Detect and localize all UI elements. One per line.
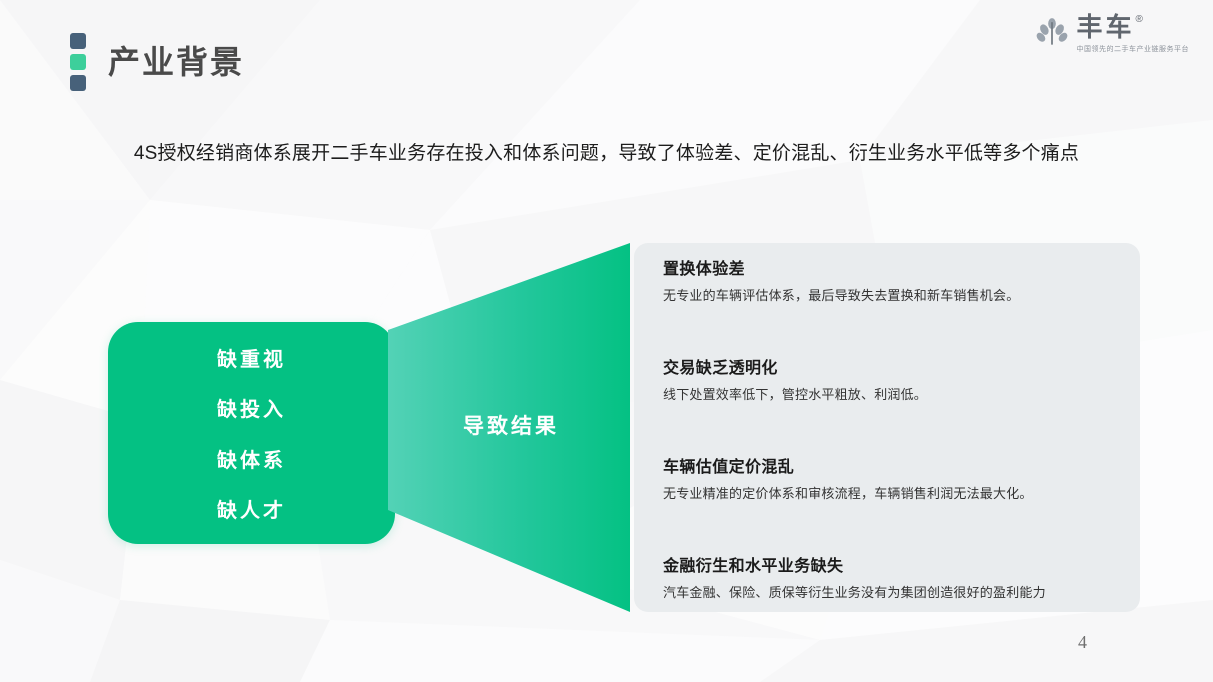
- result-item: 车辆估值定价混乱 无专业精准的定价体系和审核流程，车辆销售利润无法最大化。: [663, 453, 1133, 503]
- page-number: 4: [1078, 632, 1087, 653]
- result-description: 无专业的车辆评估体系，最后导致失去置换和新车销售机会。: [663, 288, 1133, 305]
- title-mark-bottom: [70, 75, 86, 91]
- results-list: 置换体验差 无专业的车辆评估体系，最后导致失去置换和新车销售机会。 交易缺乏透明…: [663, 251, 1133, 606]
- causes-card: 缺重视 缺投入 缺体系 缺人才: [108, 322, 395, 544]
- result-title: 置换体验差: [663, 255, 1133, 279]
- result-description: 无专业精准的定价体系和审核流程，车辆销售利润无法最大化。: [663, 486, 1133, 503]
- result-item: 金融衍生和水平业务缺失 汽车金融、保险、质保等衍生业务没有为集团创造很好的盈利能…: [663, 552, 1133, 602]
- slide-canvas: 产业背景 丰车 ® 中国领先的二手车产业链服务平台: [0, 0, 1213, 682]
- brand-name: 丰车: [1077, 14, 1135, 40]
- registered-mark-icon: ®: [1136, 15, 1143, 25]
- result-description: 线下处置效率低下，管控水平粗放、利润低。: [663, 387, 1133, 404]
- result-title: 交易缺乏透明化: [663, 354, 1133, 378]
- brand-text: 丰车 ® 中国领先的二手车产业链服务平台: [1077, 14, 1190, 54]
- brand-wheat-icon: [1035, 16, 1069, 50]
- title-mark-middle: [70, 54, 86, 70]
- cause-item-4: 缺人才: [217, 494, 286, 523]
- result-title: 车辆估值定价混乱: [663, 453, 1133, 477]
- slide-subtitle: 4S授权经销商体系展开二手车业务存在投入和体系问题，导致了体验差、定价混乱、衍生…: [0, 138, 1213, 165]
- result-item: 置换体验差 无专业的车辆评估体系，最后导致失去置换和新车销售机会。: [663, 255, 1133, 305]
- page-title: 产业背景: [108, 37, 244, 83]
- funnel-arrow-shape: [388, 238, 634, 618]
- cause-item-3: 缺体系: [217, 444, 286, 473]
- result-description: 汽车金融、保险、质保等衍生业务没有为集团创造很好的盈利能力: [663, 585, 1133, 602]
- title-decoration: [70, 33, 86, 91]
- brand-logo: 丰车 ® 中国领先的二手车产业链服务平台: [1035, 14, 1190, 54]
- slide-header: 产业背景 丰车 ® 中国领先的二手车产业链服务平台: [0, 0, 1213, 108]
- title-mark-top: [70, 33, 86, 49]
- cause-item-2: 缺投入: [217, 393, 286, 422]
- cause-item-1: 缺重视: [217, 343, 286, 372]
- brand-tagline: 中国领先的二手车产业链服务平台: [1077, 44, 1190, 54]
- result-title: 金融衍生和水平业务缺失: [663, 552, 1133, 576]
- brand-name-row: 丰车 ®: [1077, 14, 1143, 40]
- result-item: 交易缺乏透明化 线下处置效率低下，管控水平粗放、利润低。: [663, 354, 1133, 404]
